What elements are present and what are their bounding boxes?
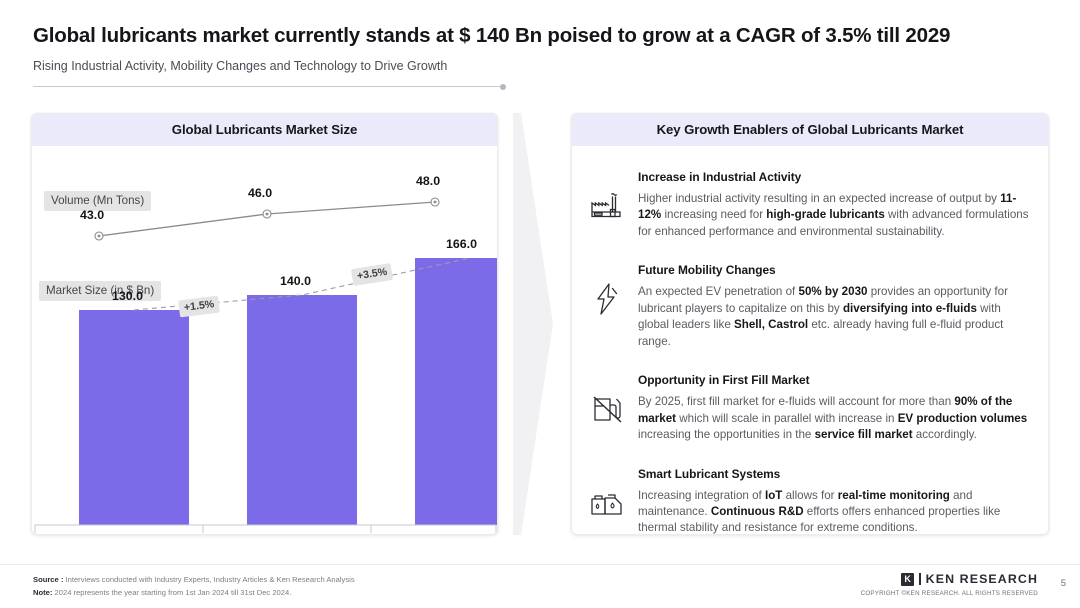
enabler-title: Smart Lubricant Systems [638, 467, 1032, 481]
brand-block: K KEN RESEARCH COPYRIGHT ©KEN RESEARCH. … [861, 572, 1038, 597]
chart-panel: Global Lubricants Market Size [31, 113, 498, 535]
brand-divider [919, 573, 921, 585]
ken-research-logo-icon: K [901, 573, 914, 586]
page-number: 5 [1061, 578, 1066, 589]
note-text: 2024 represents the year starting from 1… [55, 588, 292, 597]
bar-2019 [79, 310, 189, 525]
enabler-title: Opportunity in First Fill Market [638, 373, 1032, 387]
enabler-text: Higher industrial activity resulting in … [638, 191, 1032, 240]
enabler-title: Future Mobility Changes [638, 263, 1032, 277]
note-label: Note: [33, 588, 52, 597]
enablers-list: Increase in Industrial Activity Higher i… [572, 146, 1048, 535]
list-item[interactable]: Increase in Industrial Activity Higher i… [586, 160, 1032, 253]
enabler-text: By 2025, first fill market for e-fluids … [638, 394, 1032, 443]
enabler-title: Increase in Industrial Activity [638, 170, 1032, 184]
market-label-2029F: 166.0 [446, 237, 477, 251]
bar-2029F [415, 258, 498, 525]
enabler-text: Increasing integration of IoT allows for… [638, 488, 1032, 535]
factory-icon [586, 185, 628, 227]
note-line: Note: 2024 represents the year starting … [33, 586, 355, 599]
flow-arrow-icon [513, 113, 561, 535]
lightning-bolt-icon [586, 278, 628, 320]
list-item[interactable]: Opportunity in First Fill Market By 2025… [586, 363, 1032, 456]
slide-header: Global lubricants market currently stand… [33, 24, 1047, 73]
volume-label-2019: 43.0 [80, 208, 104, 222]
enablers-panel: Key Growth Enablers of Global Lubricants… [571, 113, 1049, 535]
page-subtitle: Rising Industrial Activity, Mobility Cha… [33, 59, 1047, 73]
bar-2024E [247, 295, 357, 525]
footer-notes: Source : Interviews conducted with Indus… [33, 573, 355, 599]
market-size-chart: Volume (Mn Tons) Market Size (in $ Bn) 4… [32, 146, 497, 533]
enabler-text: An expected EV penetration of 50% by 203… [638, 284, 1032, 350]
chart-panel-title: Global Lubricants Market Size [32, 114, 497, 146]
footer: Source : Interviews conducted with Indus… [0, 564, 1080, 608]
source-label: Source : [33, 575, 63, 584]
brand-name: KEN RESEARCH [926, 572, 1038, 586]
header-divider [33, 86, 503, 87]
list-item[interactable]: Smart Lubricant Systems Increasing integ… [586, 457, 1032, 535]
volume-label-2024E: 46.0 [248, 186, 272, 200]
oil-canister-icon [586, 482, 628, 524]
list-item[interactable]: Future Mobility Changes An expected EV p… [586, 253, 1032, 363]
no-fuel-pump-icon [586, 388, 628, 430]
page-title: Global lubricants market currently stand… [33, 24, 1047, 48]
copyright-text: COPYRIGHT ©KEN RESEARCH. ALL RIGHTS RESE… [861, 590, 1038, 597]
enablers-panel-title: Key Growth Enablers of Global Lubricants… [572, 114, 1048, 146]
market-label-2019: 130.0 [112, 289, 143, 303]
source-line: Source : Interviews conducted with Indus… [33, 573, 355, 586]
source-text: Interviews conducted with Industry Exper… [66, 575, 355, 584]
market-label-2024E: 140.0 [280, 274, 311, 288]
volume-label-2029F: 48.0 [416, 174, 440, 188]
